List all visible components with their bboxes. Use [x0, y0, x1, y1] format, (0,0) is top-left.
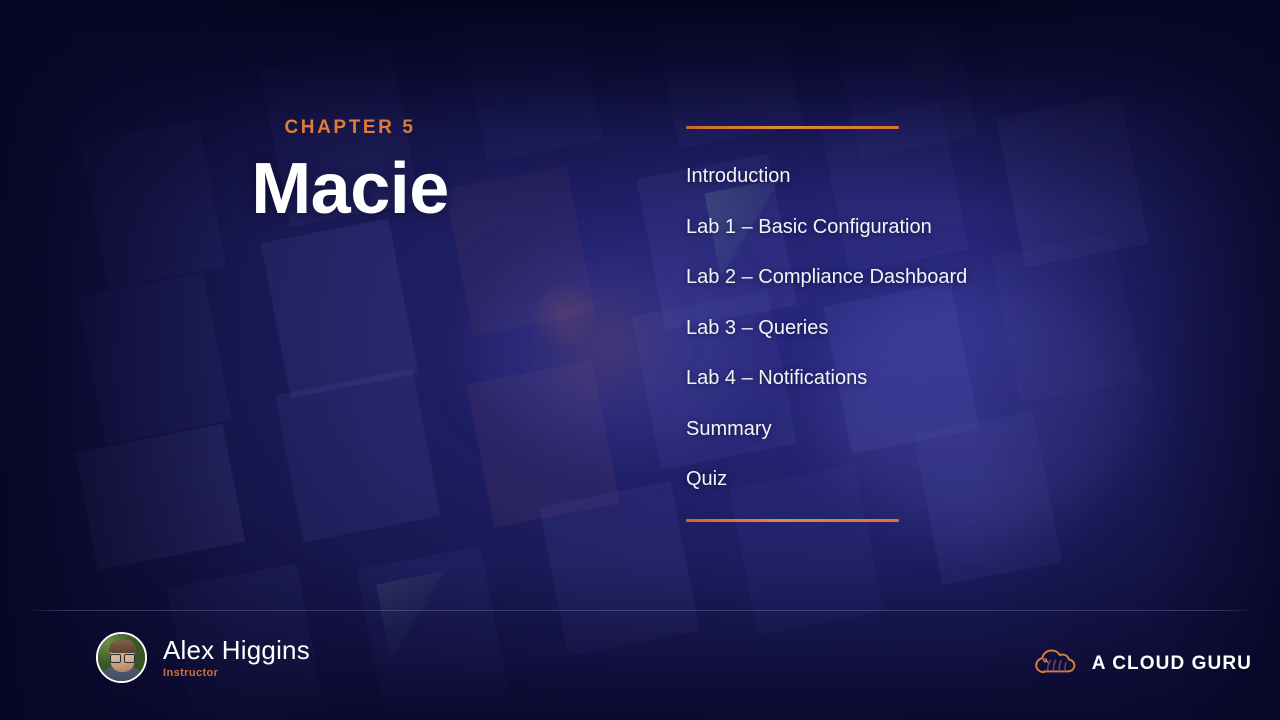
- instructor-name: Alex Higgins: [163, 636, 310, 665]
- brand-logo: A CLOUD GURU: [1033, 648, 1252, 678]
- presentation-slide: CHAPTER 5 Macie Introduction Lab 1 – Bas…: [0, 0, 1280, 720]
- instructor-role: Instructor: [163, 667, 310, 679]
- instructor-block: Alex Higgins Instructor: [96, 632, 310, 683]
- agenda-item-summary[interactable]: Summary: [686, 404, 1016, 455]
- page-title: Macie: [120, 151, 580, 227]
- brand-name: A CLOUD GURU: [1092, 654, 1252, 673]
- agenda-list: Introduction Lab 1 – Basic Configuration…: [686, 151, 1016, 505]
- avatar-photo-icon: [98, 634, 145, 681]
- agenda-item-introduction[interactable]: Introduction: [686, 151, 1016, 202]
- agenda-item-quiz[interactable]: Quiz: [686, 454, 1016, 505]
- instructor-text: Alex Higgins Instructor: [163, 636, 310, 679]
- agenda-top-rule: [686, 126, 899, 129]
- chapter-label: CHAPTER 5: [120, 118, 580, 137]
- title-block: CHAPTER 5 Macie: [120, 118, 580, 227]
- slide-content: CHAPTER 5 Macie Introduction Lab 1 – Bas…: [0, 0, 1280, 720]
- cloud-guru-logo-icon: [1033, 648, 1079, 678]
- agenda-item-lab-3[interactable]: Lab 3 – Queries: [686, 303, 1016, 354]
- agenda-item-lab-4[interactable]: Lab 4 – Notifications: [686, 353, 1016, 404]
- agenda-item-lab-2[interactable]: Lab 2 – Compliance Dashboard: [686, 252, 1016, 303]
- agenda-item-lab-1[interactable]: Lab 1 – Basic Configuration: [686, 202, 1016, 253]
- avatar: [96, 632, 147, 683]
- agenda-bottom-rule: [686, 519, 899, 522]
- footer-divider: [28, 610, 1252, 611]
- agenda-panel: Introduction Lab 1 – Basic Configuration…: [686, 126, 1016, 522]
